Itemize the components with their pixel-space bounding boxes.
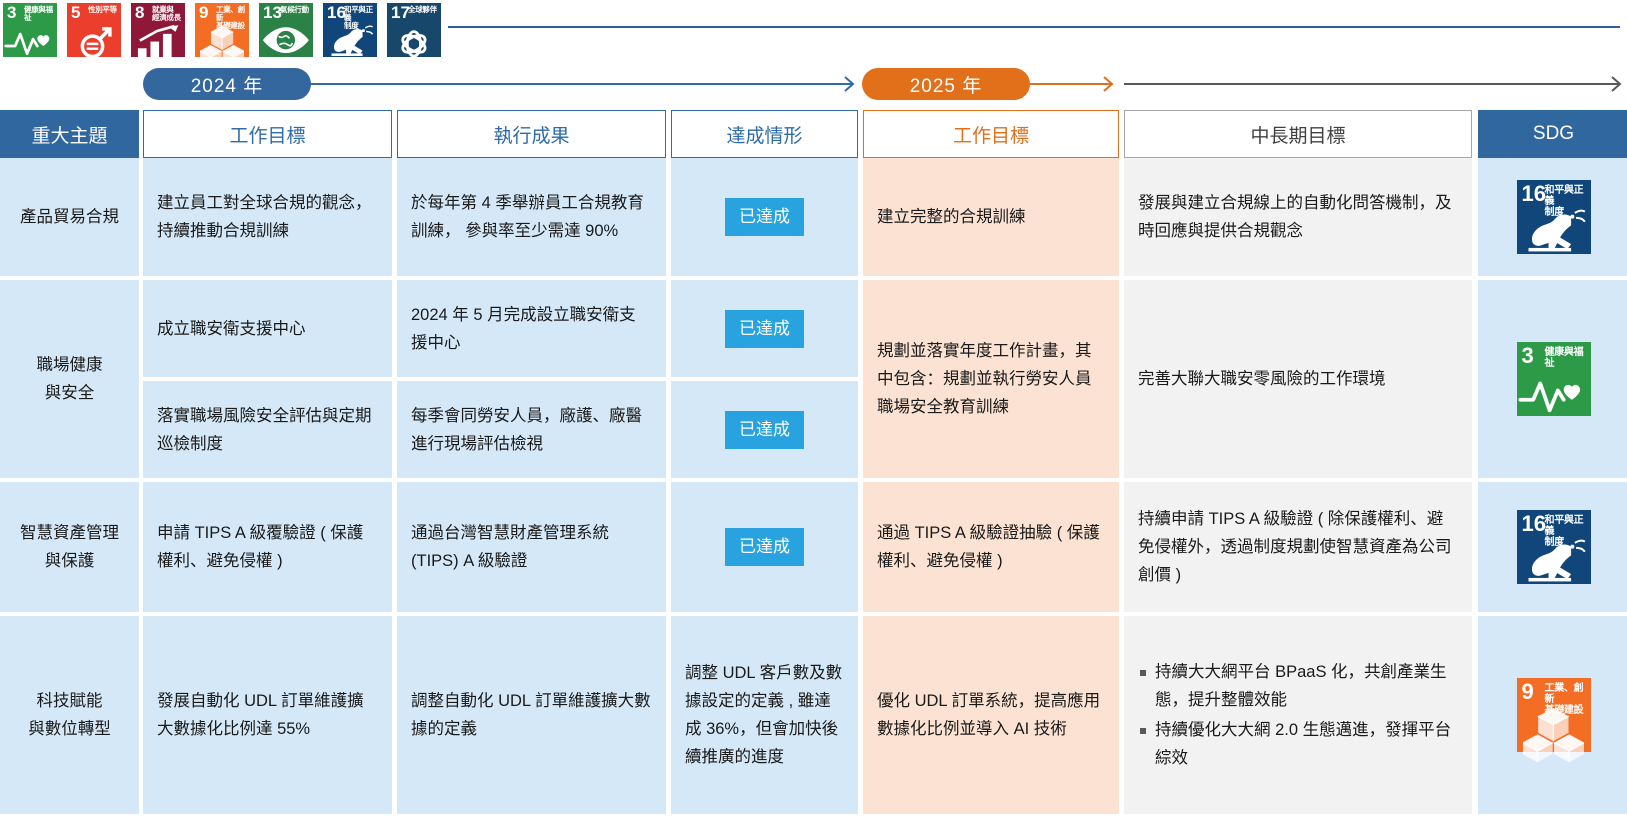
gender-equality-icon bbox=[67, 25, 121, 55]
industry-cubes-icon bbox=[195, 25, 249, 55]
sdg-number: 16 bbox=[1522, 513, 1546, 535]
cell-goal-2025: 通過 TIPS A 級驗證抽驗 ( 保護權利、避免侵權 ) bbox=[863, 482, 1119, 612]
table-row: 產品貿易合規建立員工對全球合規的觀念，持續推動合規訓練於每年第 4 季舉辦員工合… bbox=[0, 158, 1627, 276]
cell-status-group: 已達成已達成 bbox=[671, 280, 858, 478]
sustainability-goals-table-page: 3健康與福祉5性別平等8就業與 經濟成長9工業、創新 基礎建設13氣候行動16和… bbox=[0, 0, 1627, 827]
status-badge: 已達成 bbox=[725, 310, 804, 348]
cell-status-group: 已達成 bbox=[671, 158, 858, 276]
header-goal-2025: 工作目標 bbox=[863, 110, 1119, 158]
cell-sdg: 3健康與福祉 bbox=[1478, 280, 1627, 478]
table-row: 職場健康 與安全成立職安衛支援中心落實職場風險安全評估與定期巡檢制度2024 年… bbox=[0, 280, 1627, 478]
cell-result-group: 2024 年 5 月完成設立職安衛支援中心每季會同勞安人員，廠護、廠醫進行現場評… bbox=[397, 280, 666, 478]
timeline-line-future bbox=[1124, 83, 1617, 85]
cell-result-group: 於每年第 4 季舉辦員工合規教育訓練， 參與率至少需達 90% bbox=[397, 158, 666, 276]
table-row: 智慧資產管理 與保護申請 TIPS A 級覆驗證 ( 保護權利、避免侵權 )通過… bbox=[0, 482, 1627, 612]
cell-goal-2025: 優化 UDL 訂單系統，提高應用數據化比例並導入 AI 技術 bbox=[863, 616, 1119, 814]
table-header-row: 重大主題 工作目標 執行成果 達成情形 工作目標 中長期目標 SDG bbox=[0, 110, 1627, 158]
list-item: 持續大大網平台 BPaaS 化，共創產業生態，提升整體效能 bbox=[1138, 658, 1458, 714]
sdg-label: 氣候行動 bbox=[280, 6, 311, 14]
sdg-number: 3 bbox=[7, 4, 16, 21]
timeline-label-2024: 2024 年 bbox=[191, 71, 264, 98]
status-badge: 已達成 bbox=[725, 411, 804, 449]
sdg-number: 16 bbox=[1522, 183, 1546, 205]
sdg-label: 健康與福祉 bbox=[1545, 347, 1589, 369]
cell-goal-2024: 建立員工對全球合規的觀念，持續推動合規訓練 bbox=[143, 158, 392, 276]
sdg-badge-17: 17全球夥伴 bbox=[387, 3, 441, 57]
sdg-label: 就業與 經濟成長 bbox=[152, 6, 183, 22]
header-sdg: SDG bbox=[1478, 110, 1627, 158]
cell-goal-2024: 發展自動化 UDL 訂單維護擴大數據化比例達 55% bbox=[143, 616, 392, 814]
peace-dove-icon bbox=[1517, 209, 1591, 251]
cell-goal-2024-group: 發展自動化 UDL 訂單維護擴大數據化比例達 55% bbox=[143, 616, 392, 814]
timeline-label-2025: 2025 年 bbox=[910, 71, 983, 98]
arrow-right-blue-icon bbox=[833, 74, 855, 94]
sdg-badge-3: 3健康與福祉 bbox=[1517, 342, 1591, 416]
cell-long-term: 持續申請 TIPS A 級驗證 ( 除保護權利、避免侵權外，透過制度規劃使智慧資… bbox=[1124, 482, 1472, 612]
sdg-badge-16: 16和平與正義 制度 bbox=[1517, 180, 1591, 254]
header-long-term: 中長期目標 bbox=[1124, 110, 1472, 158]
industry-cubes-icon bbox=[1517, 707, 1591, 749]
goals-table: 重大主題 工作目標 執行成果 達成情形 工作目標 中長期目標 SDG 產品貿易合… bbox=[0, 110, 1627, 814]
sdg-badge-9: 9工業、創新 基礎建設 bbox=[195, 3, 249, 57]
header-result: 執行成果 bbox=[397, 110, 666, 158]
sdg-number: 5 bbox=[71, 4, 80, 21]
header-goal-2024: 工作目標 bbox=[143, 110, 392, 158]
cell-goal-2024-group: 建立員工對全球合規的觀念，持續推動合規訓練 bbox=[143, 158, 392, 276]
sdg-badge-5: 5性別平等 bbox=[67, 3, 121, 57]
cell-goal-2025: 建立完整的合規訓練 bbox=[863, 158, 1119, 276]
cell-sdg: 16和平與正義 制度 bbox=[1478, 482, 1627, 612]
peace-dove-icon bbox=[323, 25, 377, 55]
header-status: 達成情形 bbox=[671, 110, 858, 158]
cell-sdg: 16和平與正義 制度 bbox=[1478, 158, 1627, 276]
peace-dove-icon bbox=[1517, 539, 1591, 581]
cell-result: 於每年第 4 季舉辦員工合規教育訓練， 參與率至少需達 90% bbox=[397, 158, 666, 276]
cell-goal-2024: 成立職安衛支援中心 bbox=[143, 280, 392, 377]
timeline: 2024 年 2025 年 bbox=[0, 68, 1627, 106]
table-row: 科技賦能 與數位轉型發展自動化 UDL 訂單維護擴大數據化比例達 55%調整自動… bbox=[0, 616, 1627, 814]
health-heartbeat-icon bbox=[1517, 371, 1591, 413]
cell-goal-2024-group: 申請 TIPS A 級覆驗證 ( 保護權利、避免侵權 ) bbox=[143, 482, 392, 612]
cell-status: 已達成 bbox=[671, 381, 858, 478]
sdg-number: 9 bbox=[199, 4, 208, 21]
cell-status: 調整 UDL 客戶數及數據設定的定義 , 雖達成 36%，但會加快後續推廣的進度 bbox=[671, 616, 858, 814]
timeline-line-2025 bbox=[1020, 83, 1103, 85]
long-term-bullet-list: 持續大大網平台 BPaaS 化，共創產業生態，提升整體效能持續優化大大網 2.0… bbox=[1138, 658, 1458, 772]
timeline-line-2024 bbox=[300, 83, 845, 85]
list-item: 持續優化大大網 2.0 生態邁進，發揮平台綜效 bbox=[1138, 716, 1458, 772]
cell-sdg: 9工業、創新 基礎建設 bbox=[1478, 616, 1627, 814]
cell-topic: 產品貿易合規 bbox=[0, 158, 139, 276]
cell-goal-2024-group: 成立職安衛支援中心落實職場風險安全評估與定期巡檢制度 bbox=[143, 280, 392, 478]
health-heartbeat-icon bbox=[3, 25, 57, 55]
sdg-number: 9 bbox=[1522, 681, 1534, 703]
cell-status: 已達成 bbox=[671, 280, 858, 377]
cell-result-group: 調整自動化 UDL 訂單維護擴大數據的定義 bbox=[397, 616, 666, 814]
sdg-badge-13: 13氣候行動 bbox=[259, 3, 313, 57]
cell-result-group: 通過台灣智慧財產管理系統 (TIPS) A 級驗證 bbox=[397, 482, 666, 612]
sdg-badge-16: 16和平與正義 制度 bbox=[1517, 510, 1591, 584]
sdg-icon-strip: 3健康與福祉5性別平等8就業與 經濟成長9工業、創新 基礎建設13氣候行動16和… bbox=[3, 3, 441, 57]
cell-status: 已達成 bbox=[671, 158, 858, 276]
timeline-pill-2025: 2025 年 bbox=[862, 68, 1030, 100]
climate-eye-icon bbox=[259, 25, 313, 55]
status-badge: 已達成 bbox=[725, 198, 804, 236]
sdg-badge-8: 8就業與 經濟成長 bbox=[131, 3, 185, 57]
cell-status-group: 已達成 bbox=[671, 482, 858, 612]
cell-long-term: 發展與建立合規線上的自動化問答機制，及時回應與提供合規觀念 bbox=[1124, 158, 1472, 276]
sdg-number: 8 bbox=[135, 4, 144, 21]
cell-long-term: 完善大聯大職安零風險的工作環境 bbox=[1124, 280, 1472, 478]
cell-status: 已達成 bbox=[671, 482, 858, 612]
sdg-label: 性別平等 bbox=[88, 6, 119, 14]
arrow-right-grey-icon bbox=[1600, 74, 1622, 94]
sdg-badge-16: 16和平與正義 制度 bbox=[323, 3, 377, 57]
cell-result: 通過台灣智慧財產管理系統 (TIPS) A 級驗證 bbox=[397, 482, 666, 612]
timeline-pill-2024: 2024 年 bbox=[143, 68, 311, 100]
sdg-badge-3: 3健康與福祉 bbox=[3, 3, 57, 57]
cell-result: 2024 年 5 月完成設立職安衛支援中心 bbox=[397, 280, 666, 377]
cell-result: 每季會同勞安人員，廠護、廠醫進行現場評估檢視 bbox=[397, 381, 666, 478]
header-rule bbox=[448, 26, 1620, 28]
status-badge: 已達成 bbox=[725, 528, 804, 566]
sdg-label: 全球夥伴 bbox=[408, 6, 439, 14]
cell-goal-2025: 規劃並落實年度工作計畫，其中包含：規劃並執行勞安人員職場安全教育訓練 bbox=[863, 280, 1119, 478]
sdg-badge-9: 9工業、創新 基礎建設 bbox=[1517, 678, 1591, 752]
cell-goal-2024: 申請 TIPS A 級覆驗證 ( 保護權利、避免侵權 ) bbox=[143, 482, 392, 612]
arrow-right-orange-icon bbox=[1092, 74, 1114, 94]
cell-long-term: 持續大大網平台 BPaaS 化，共創產業生態，提升整體效能持續優化大大網 2.0… bbox=[1124, 616, 1472, 814]
cell-status-group: 調整 UDL 客戶數及數據設定的定義 , 雖達成 36%，但會加快後續推廣的進度 bbox=[671, 616, 858, 814]
sdg-number: 3 bbox=[1522, 345, 1534, 367]
cell-topic: 職場健康 與安全 bbox=[0, 280, 139, 478]
partnership-circles-icon bbox=[387, 25, 441, 55]
cell-result: 調整自動化 UDL 訂單維護擴大數據的定義 bbox=[397, 616, 666, 814]
header-topic: 重大主題 bbox=[0, 110, 139, 158]
sdg-label: 健康與福祉 bbox=[24, 6, 55, 22]
cell-goal-2024: 落實職場風險安全評估與定期巡檢制度 bbox=[143, 381, 392, 478]
cell-topic: 科技賦能 與數位轉型 bbox=[0, 616, 139, 814]
cell-topic: 智慧資產管理 與保護 bbox=[0, 482, 139, 612]
growth-chart-icon bbox=[131, 25, 185, 55]
